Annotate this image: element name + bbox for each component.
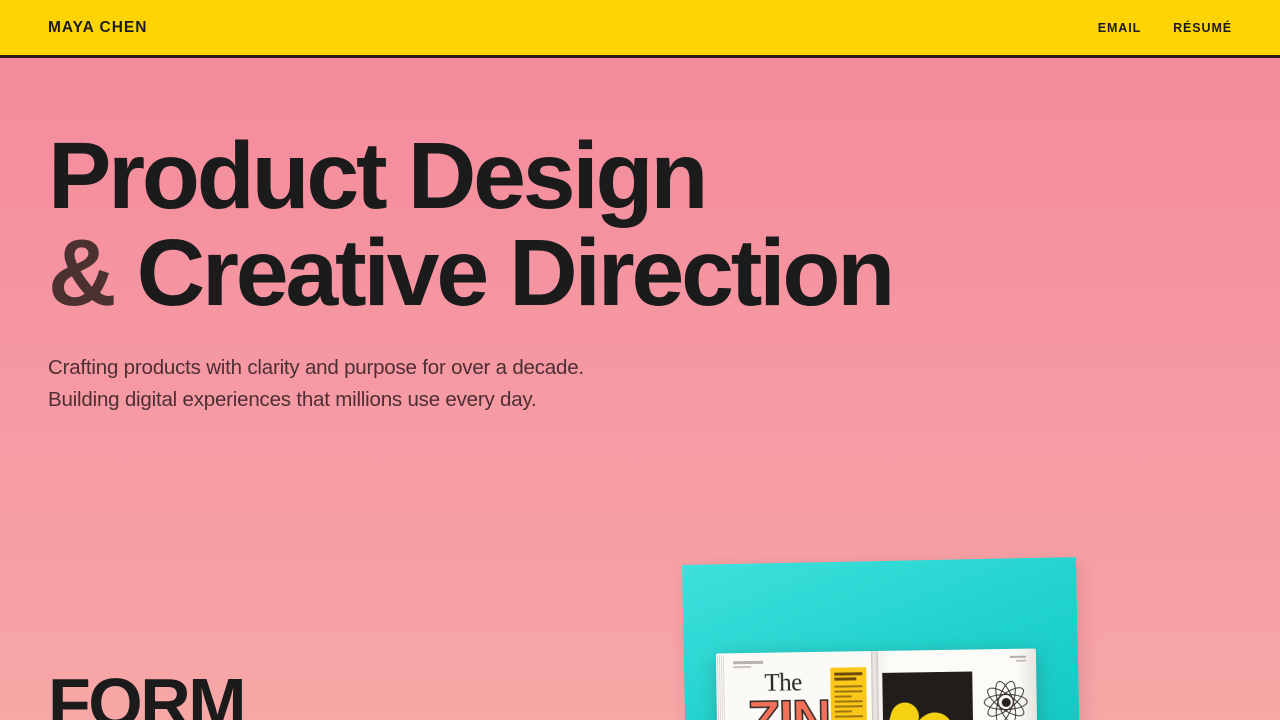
open-magazine-photo: The ZIN xyxy=(716,648,1038,720)
magazine-title: ZIN xyxy=(747,692,830,720)
sidebar-text-rule xyxy=(835,710,852,712)
headline-line-two: Creative Direction xyxy=(137,220,892,326)
sidebar-text-rule xyxy=(835,715,863,717)
nav-link-resume[interactable]: RÉSUMÉ xyxy=(1173,21,1232,35)
magazine-page-right xyxy=(874,648,1038,720)
hero-subtitle: Crafting products with clarity and purpo… xyxy=(48,352,892,416)
masthead-rule xyxy=(733,661,763,664)
folio-rule xyxy=(1010,656,1026,658)
page-background: MAYA CHEN EMAIL RÉSUMÉ Product Design & … xyxy=(0,0,1280,720)
brand-logo[interactable]: MAYA CHEN xyxy=(48,19,147,37)
folio-rule-secondary xyxy=(1016,660,1026,662)
page-title-secondary: & Creative Direction xyxy=(48,225,892,322)
headline-ampersand: & xyxy=(48,220,113,326)
sidebar-text-rule xyxy=(835,700,863,702)
site-header: MAYA CHEN EMAIL RÉSUMÉ xyxy=(0,0,1280,58)
hero-subtitle-line-one: Crafting products with clarity and purpo… xyxy=(48,356,584,379)
magazine-page-left: The ZIN xyxy=(716,651,876,720)
atom-diagram-icon xyxy=(982,679,1029,720)
hero-subtitle-line-two: Building digital experiences that millio… xyxy=(48,388,536,411)
hero-section: Product Design & Creative Direction Craf… xyxy=(48,128,892,416)
sidebar-text-rule xyxy=(834,685,862,687)
yellow-droplet-icon xyxy=(887,699,922,720)
page-title: Product Design xyxy=(48,128,892,225)
masthead-rule-secondary xyxy=(733,666,751,668)
primary-navigation: EMAIL RÉSUMÉ xyxy=(1098,21,1232,35)
magazine-yellow-sidebar xyxy=(830,667,868,720)
feature-image[interactable]: The ZIN xyxy=(676,558,1088,720)
nav-link-email[interactable]: EMAIL xyxy=(1098,21,1141,35)
sidebar-text-rule xyxy=(835,705,863,707)
dark-art-plate xyxy=(882,671,974,720)
sidebar-text-rule xyxy=(835,690,863,692)
page-edge-stack xyxy=(716,655,727,720)
sidebar-heading-rule xyxy=(834,672,862,675)
atom-nucleus xyxy=(1001,697,1010,706)
sidebar-heading-rule-2 xyxy=(834,677,856,680)
headline-line-one: Product Design xyxy=(48,123,705,229)
section-heading-form: FORM xyxy=(48,668,244,720)
sidebar-text-rule xyxy=(835,695,852,697)
